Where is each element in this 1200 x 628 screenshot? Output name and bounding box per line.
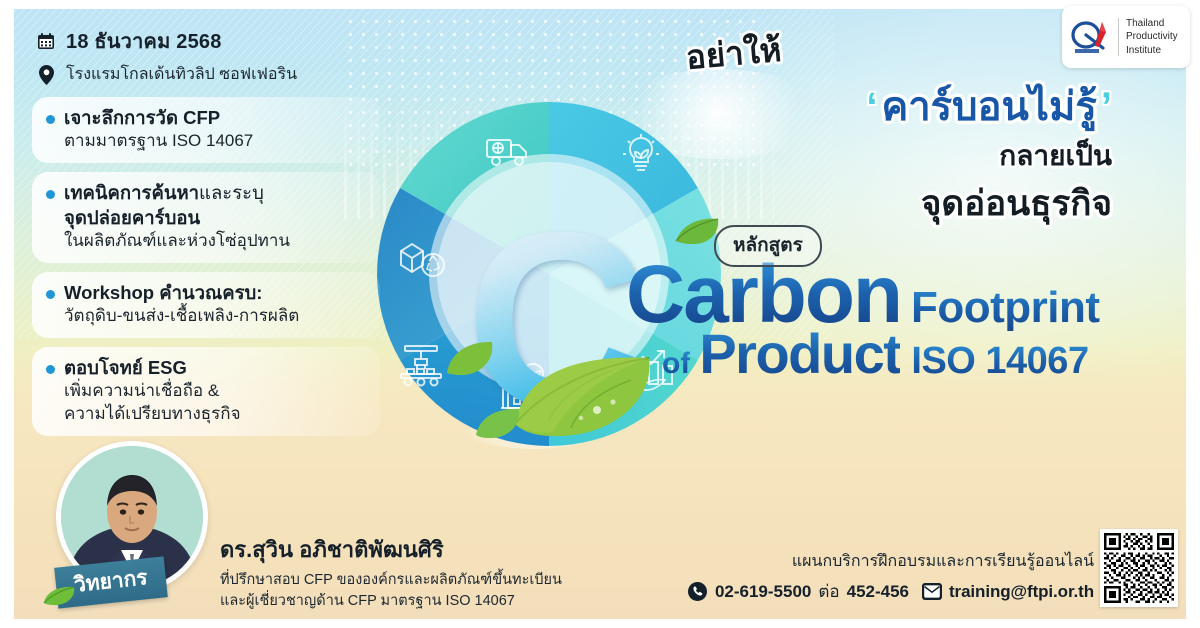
speaker-role-line-2: และผู้เชี่ยวชาญด้าน CFP มาตรฐาน ISO 1406… bbox=[220, 591, 562, 612]
highlight-sub: ตามมาตรฐาน ISO 14067 bbox=[64, 130, 366, 153]
leaf-badge-icon bbox=[42, 585, 76, 612]
leaf-decor-small bbox=[444, 339, 496, 384]
quote-close-icon: ’ bbox=[1101, 91, 1112, 123]
location-pin-icon bbox=[36, 64, 56, 86]
contact-email[interactable]: training@ftpi.or.th bbox=[949, 582, 1094, 602]
course-title: Carbon Footprint of Product ISO 14067 bbox=[626, 257, 1186, 386]
event-venue: โรงแรมโกลเด้นทิวลิป ซอฟเฟอริน bbox=[66, 62, 297, 87]
highlight-head: ตอบโจทย์ ESG bbox=[64, 356, 187, 380]
envelope-icon bbox=[922, 582, 942, 602]
headline-line-4: จุดอ่อนธุรกิจ bbox=[572, 176, 1112, 231]
title-footprint: Footprint bbox=[911, 283, 1100, 333]
highlight-sub: เพิ่มความน่าเชื่อถือ & bbox=[64, 380, 366, 403]
highlight-head-line: Workshop คำนวณครบ: bbox=[46, 281, 366, 305]
highlight-head: เจาะลึกการวัด CFP bbox=[64, 106, 220, 130]
ftpi-logo-mark-icon bbox=[1069, 16, 1111, 58]
speaker-role-line-1: ที่ปรึกษาสอบ CFP ขององค์กรและผลิตภัณฑ์ขึ… bbox=[220, 570, 562, 591]
headline-emphasis: คาร์บอนไม่รู้ bbox=[881, 74, 1096, 138]
title-of: of bbox=[662, 347, 690, 381]
highlight-card-4: ตอบโจทย์ ESG เพิ่มความน่าเชื่อถือ & ความ… bbox=[32, 347, 380, 436]
speaker-name: ดร.สุวิน อภิชาติพัฒนศิริ bbox=[220, 532, 562, 567]
highlight-head: Workshop คำนวณครบ: bbox=[64, 281, 262, 305]
headline-block: อย่าให้ ‘ คาร์บอนไม่รู้ ’ กลายเป็น จุดอ่… bbox=[572, 27, 1112, 231]
logo-line-2: Productivity bbox=[1126, 31, 1178, 42]
banner-canvas: C bbox=[14, 9, 1186, 619]
highlight-head-line: ตอบโจทย์ ESG bbox=[46, 356, 366, 380]
calendar-icon bbox=[36, 30, 56, 52]
title-iso: ISO 14067 bbox=[911, 340, 1088, 383]
bullet-dot-icon bbox=[46, 290, 55, 299]
logo-divider bbox=[1118, 18, 1119, 56]
robot-arm-icon bbox=[395, 344, 447, 392]
event-date: 18 ธันวาคม 2568 bbox=[66, 25, 222, 57]
logo-line-1: Thailand bbox=[1126, 18, 1164, 29]
bullet-dot-icon bbox=[46, 365, 55, 374]
logo-text: Thailand Productivity Institute bbox=[1126, 17, 1178, 57]
qr-code[interactable] bbox=[1100, 529, 1178, 607]
highlight-card-1: เจาะลึกการวัด CFP ตามมาตรฐาน ISO 14067 bbox=[32, 97, 380, 163]
contact-ext-label: ต่อ bbox=[818, 578, 839, 605]
promo-banner: C bbox=[0, 0, 1200, 628]
headline-line-2: ‘ คาร์บอนไม่รู้ ’ bbox=[572, 74, 1112, 138]
logo-line-3: Institute bbox=[1126, 45, 1161, 56]
highlight-sub-2: ความได้เปรียบทางธุรกิจ bbox=[64, 403, 366, 426]
event-date-row: 18 ธันวาคม 2568 bbox=[36, 25, 297, 57]
contact-ext: 452-456 bbox=[847, 582, 909, 602]
highlight-head-line: เจาะลึกการวัด CFP bbox=[46, 106, 366, 130]
bullet-dot-icon bbox=[46, 190, 55, 199]
phone-icon bbox=[688, 582, 708, 602]
highlight-card-2: เทคนิคการค้นหาและระบุ จุดปล่อยคาร์บอน ใน… bbox=[32, 172, 380, 263]
headline-line-3: กลายเป็น bbox=[572, 134, 1112, 178]
highlight-card-3: Workshop คำนวณครบ: วัตถุดิบ-ขนส่ง-เชื้อเ… bbox=[32, 272, 380, 338]
headline-line-1: อย่าให้ bbox=[684, 23, 784, 84]
bullet-dot-icon bbox=[46, 115, 55, 124]
course-badge: หลักสูตร bbox=[714, 225, 822, 267]
highlight-sub: ในผลิตภัณฑ์และห่วงโซ่อุปทาน bbox=[64, 230, 366, 253]
quote-open-icon: ‘ bbox=[866, 91, 877, 123]
event-info: 18 ธันวาคม 2568 โรงแรมโกลเด้นทิวลิป ซอฟเ… bbox=[36, 25, 297, 92]
highlight-list: เจาะลึกการวัด CFP ตามมาตรฐาน ISO 14067 เ… bbox=[32, 97, 380, 445]
highlight-head: เทคนิคการค้นหาและระบุ จุดปล่อยคาร์บอน bbox=[64, 181, 264, 230]
contact-row: 02-619-5500 ต่อ 452-456 training@ftpi.or… bbox=[688, 578, 1094, 605]
contact-block: แผนกบริการฝึกอบรมและการเรียนรู้ออนไลน์ 0… bbox=[688, 549, 1094, 605]
truck-icon bbox=[485, 134, 531, 168]
contact-department: แผนกบริการฝึกอบรมและการเรียนรู้ออนไลน์ bbox=[688, 549, 1094, 574]
ftpi-logo: Thailand Productivity Institute bbox=[1062, 6, 1190, 68]
speaker-details: ดร.สุวิน อภิชาติพัฒนศิริ ที่ปรึกษาสอบ CF… bbox=[220, 532, 562, 612]
recycle-box-icon bbox=[397, 239, 449, 281]
leaf-decor-small-2 bbox=[474, 407, 522, 446]
contact-phone[interactable]: 02-619-5500 bbox=[715, 582, 811, 602]
title-product: Product bbox=[699, 321, 900, 386]
highlight-sub: วัตถุดิบ-ขนส่ง-เชื้อเพลิง-การผลิต bbox=[64, 305, 366, 328]
event-venue-row: โรงแรมโกลเด้นทิวลิป ซอฟเฟอริน bbox=[36, 62, 297, 87]
highlight-head-line: เทคนิคการค้นหาและระบุ จุดปล่อยคาร์บอน bbox=[46, 181, 366, 230]
